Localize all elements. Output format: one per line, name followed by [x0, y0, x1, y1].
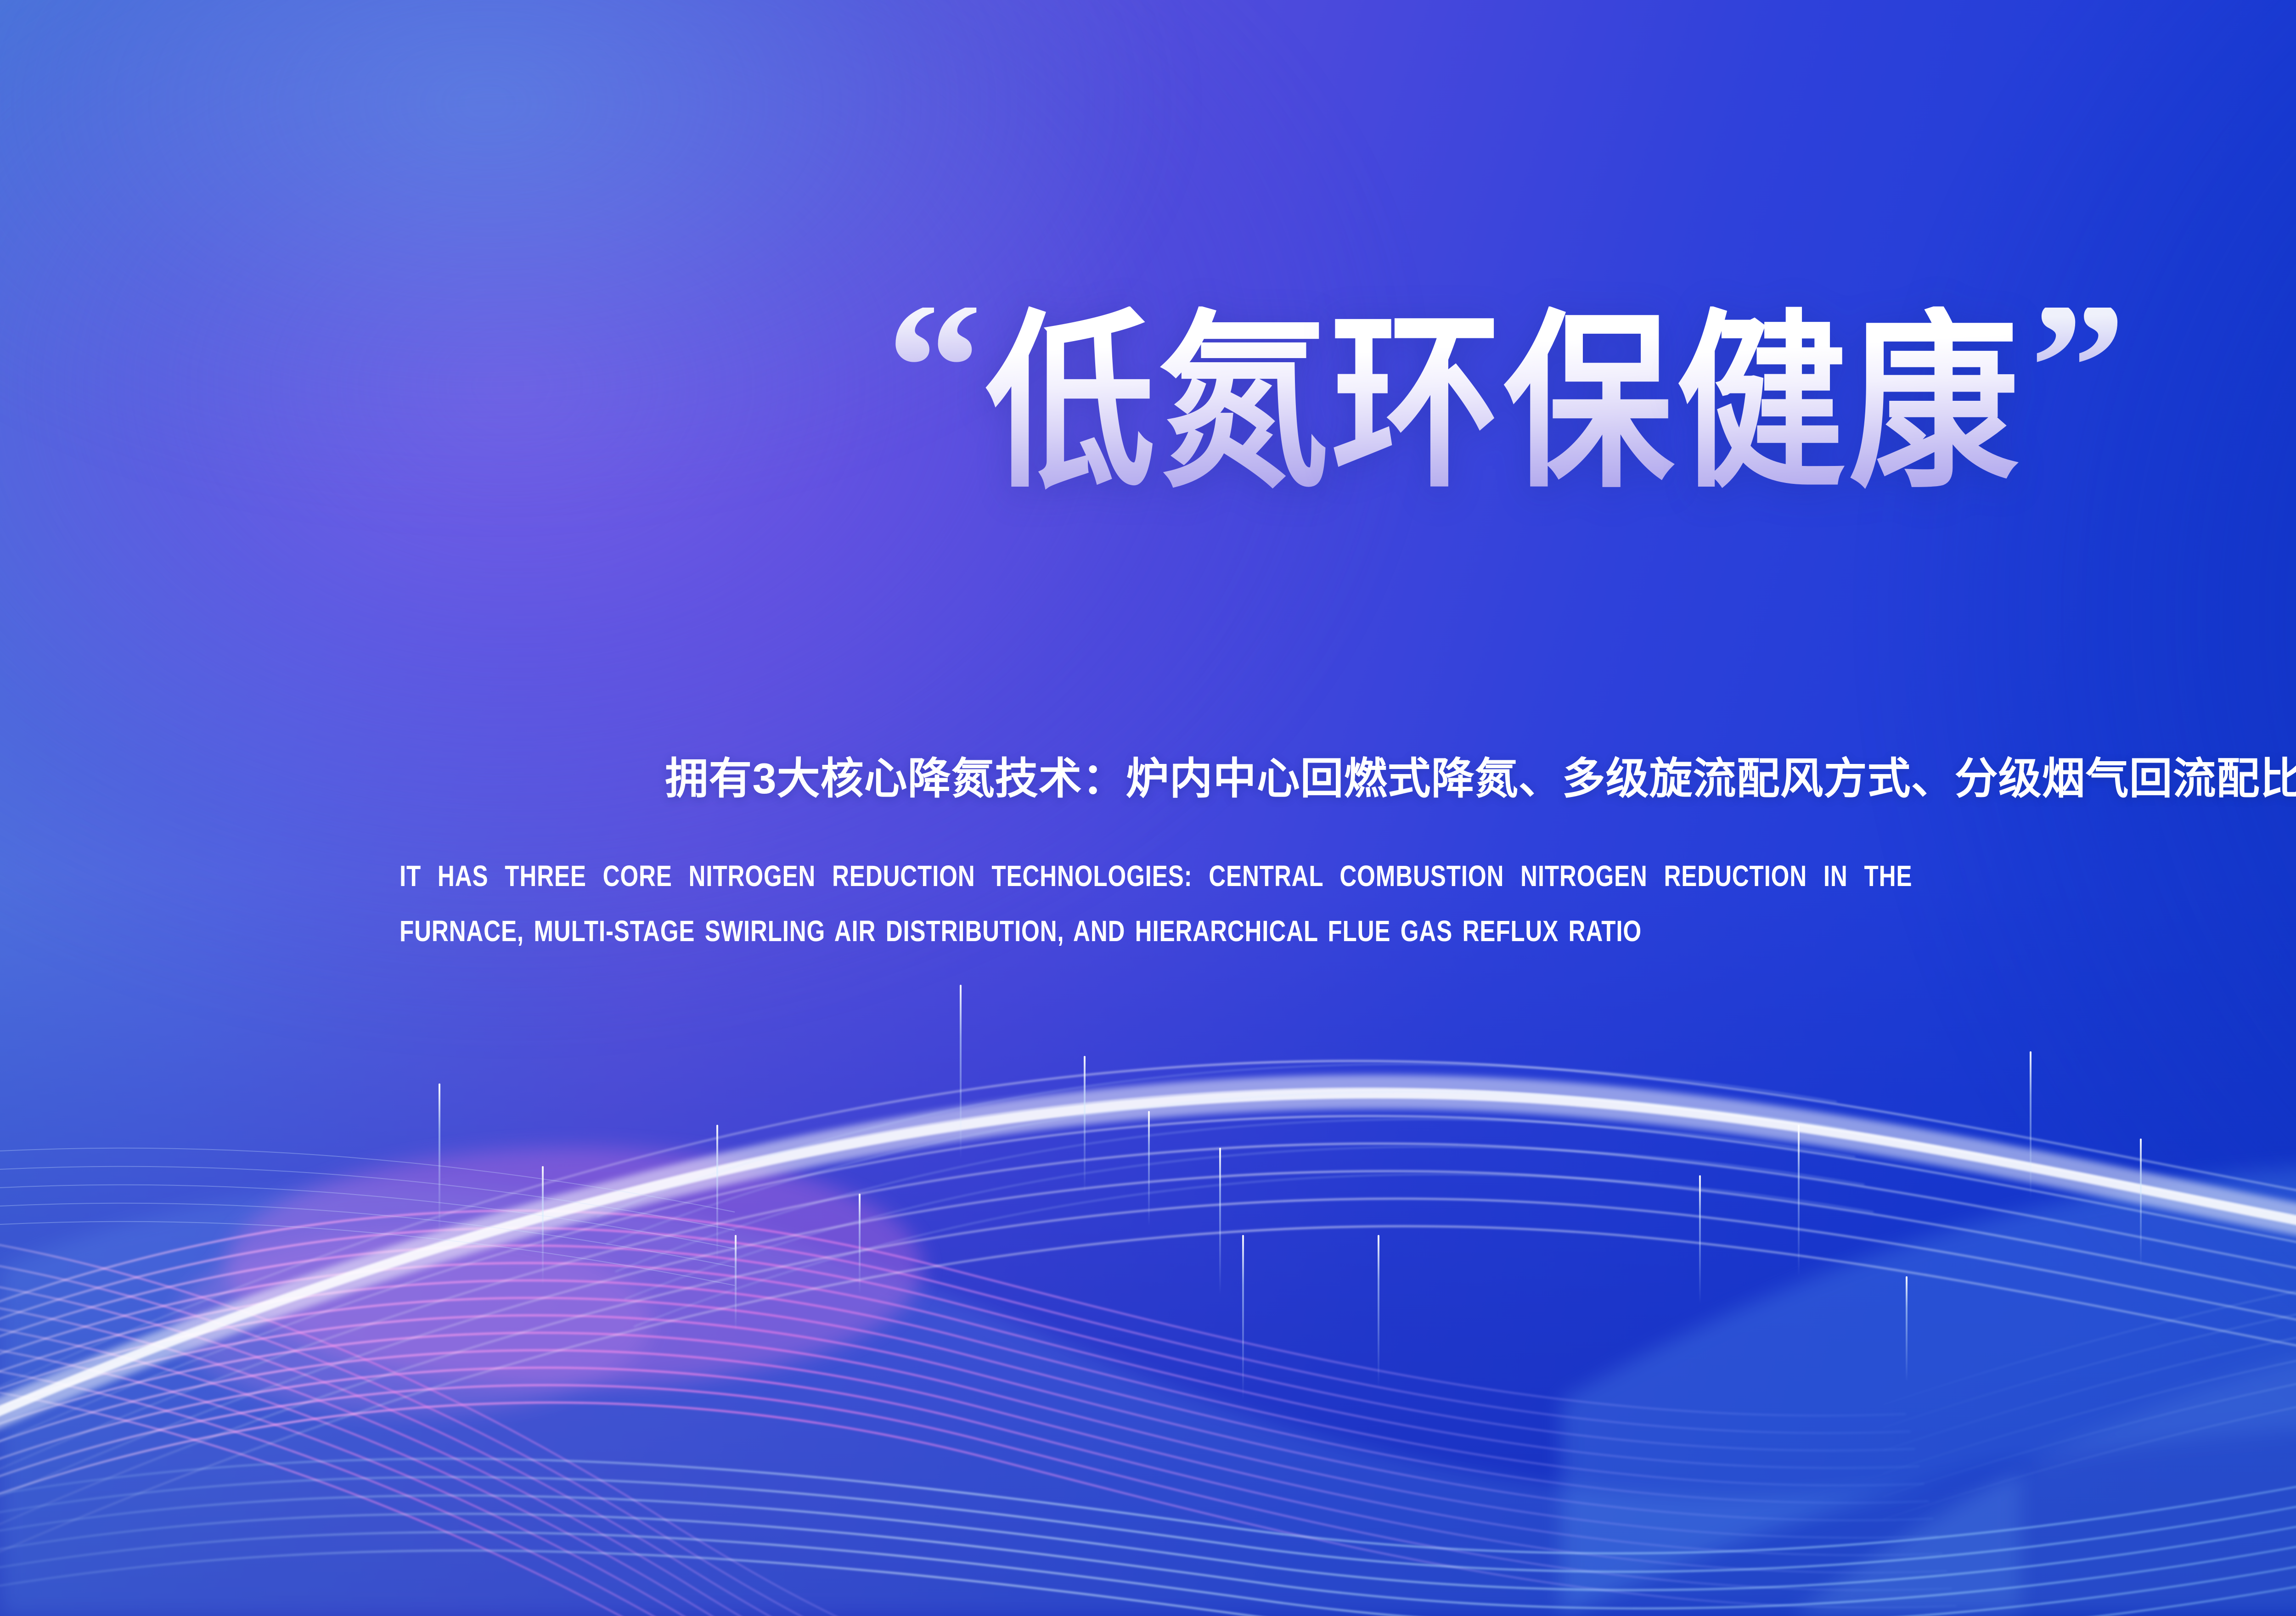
headline-word-1: 低氮 — [985, 306, 1331, 500]
headline-word-3: 健康 — [1676, 306, 2021, 500]
headline-word-2: 环保 — [1331, 306, 1676, 500]
open-quote-mark: “ — [886, 308, 983, 427]
bottom-vignette — [0, 873, 2296, 1616]
subtitle-chinese: 拥有3大核心降氮技术：炉内中心回燃式降氮、多级旋流配风方式、分级烟气回流配比。 — [0, 744, 2296, 806]
promo-banner: 科技-共赢 SCIENCE AND TECHNOLOGY AND WIN-WIN… — [0, 0, 2296, 1616]
headline-block: “ 低氮 环保 健康 ” — [0, 317, 2296, 490]
subtitle-english-line-1: IT HAS THREE CORE NITROGEN REDUCTION TEC… — [400, 861, 2296, 891]
subtitle-english-line-2: FURNACE, MULTI-STAGE SWIRLING AIR DISTRI… — [400, 916, 2296, 946]
close-quote-mark: ” — [2030, 308, 2126, 427]
